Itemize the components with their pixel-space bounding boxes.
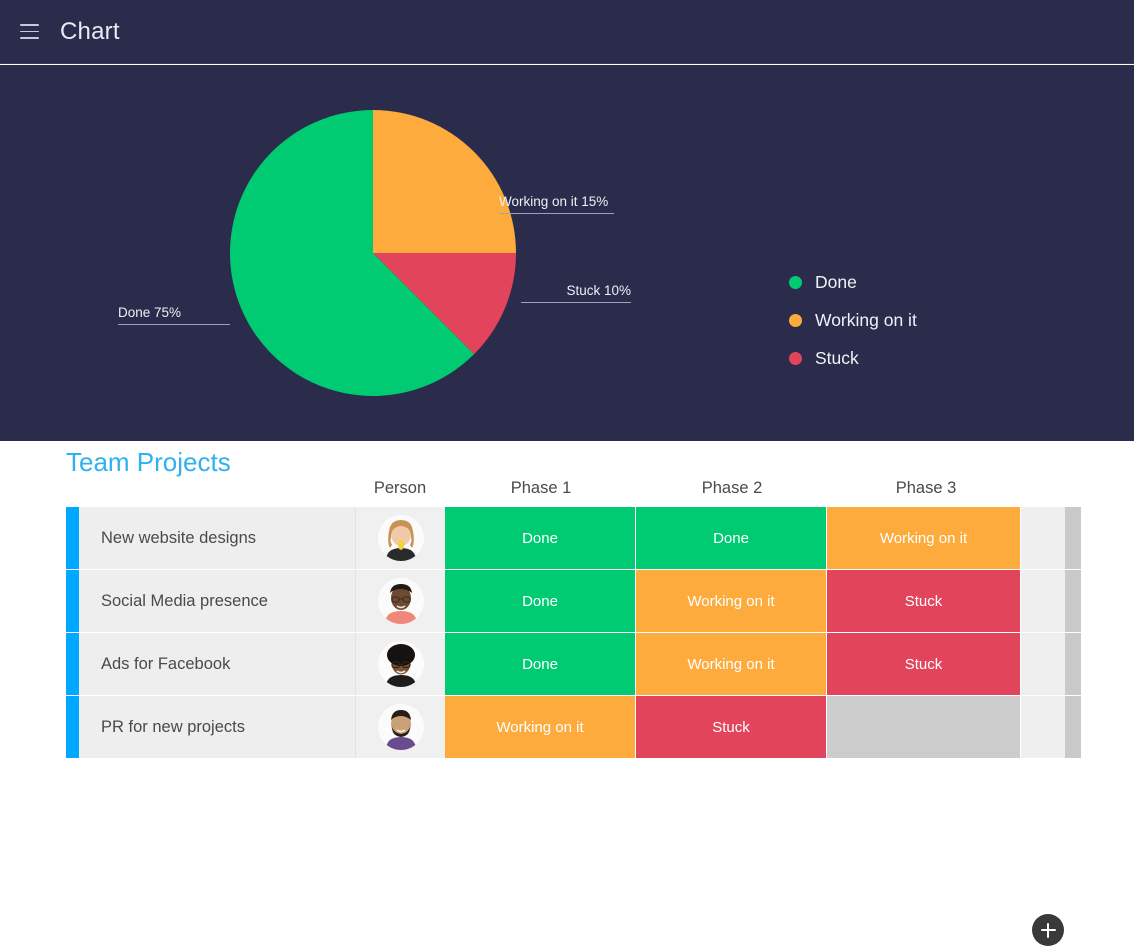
avatar (378, 641, 424, 687)
row-name[interactable]: Social Media presence (79, 570, 355, 632)
status-cell-phase-2[interactable]: Working on it (636, 570, 827, 632)
board-header: Team Projects Person Phase 1 Phase 2 Pha… (0, 441, 1134, 507)
vertical-scrollbar[interactable] (1065, 633, 1081, 695)
row-name[interactable]: PR for new projects (79, 696, 355, 758)
status-cell-phase-1[interactable]: Done (445, 570, 636, 632)
table-row[interactable]: New website designs D (0, 507, 1134, 569)
row-spacer-cell (1021, 507, 1065, 569)
status-cell-phase-3[interactable]: Working on it (827, 507, 1021, 569)
legend-dot-icon (789, 352, 802, 365)
pie-label-working-on-it-text: Working on it 15% (499, 193, 614, 210)
column-header-phase-1[interactable]: Phase 1 (446, 479, 636, 498)
row-accent-bar (66, 570, 79, 632)
legend-label-stuck: Stuck (815, 348, 859, 369)
pie-label-working-on-it: Working on it 15% (499, 193, 614, 214)
avatar-image (378, 578, 424, 624)
row-name[interactable]: Ads for Facebook (79, 633, 355, 695)
status-cell-phase-3[interactable] (827, 696, 1021, 758)
avatar (378, 578, 424, 624)
board-panel: Team Projects Person Phase 1 Phase 2 Pha… (0, 441, 1134, 768)
row-accent-bar (66, 633, 79, 695)
row-accent-bar (66, 507, 79, 569)
add-column-button[interactable] (1032, 914, 1064, 946)
status-cell-phase-2[interactable]: Stuck (636, 696, 827, 758)
pie-slice-working-on-it (373, 110, 516, 253)
row-spacer-cell (1021, 696, 1065, 758)
column-header-person[interactable]: Person (355, 479, 445, 498)
app-root: Chart Working on it 15% Stuck 10% Done 7… (0, 0, 1134, 768)
legend-item-stuck[interactable]: Stuck (789, 339, 917, 377)
avatar (378, 704, 424, 750)
status-cell-phase-3[interactable]: Stuck (827, 633, 1021, 695)
pie-chart-svg (228, 108, 518, 398)
hamburger-line (20, 31, 39, 33)
status-cell-phase-1[interactable]: Done (445, 507, 636, 569)
vertical-scrollbar[interactable] (1065, 696, 1081, 758)
legend-dot-icon (789, 276, 802, 289)
row-person-cell[interactable] (355, 696, 445, 758)
legend-label-done: Done (815, 272, 857, 293)
leader-line (521, 302, 631, 303)
hamburger-line (20, 24, 39, 26)
pie-label-stuck-text: Stuck 10% (521, 282, 631, 299)
chart-legend: Done Working on it Stuck (789, 263, 917, 377)
row-person-cell[interactable] (355, 570, 445, 632)
row-name[interactable]: New website designs (79, 507, 355, 569)
avatar (378, 515, 424, 561)
vertical-scrollbar[interactable] (1065, 507, 1081, 569)
avatar-image (378, 515, 424, 561)
board-rows: New website designs D (0, 507, 1134, 759)
legend-item-done[interactable]: Done (789, 263, 917, 301)
pie-label-done-text: Done 75% (118, 304, 230, 321)
legend-item-working-on-it[interactable]: Working on it (789, 301, 917, 339)
row-person-cell[interactable] (355, 507, 445, 569)
row-accent-bar (66, 696, 79, 758)
page-title: Chart (60, 18, 120, 46)
row-person-cell[interactable] (355, 633, 445, 695)
avatar-image (378, 704, 424, 750)
status-cell-phase-1[interactable]: Working on it (445, 696, 636, 758)
table-row[interactable]: PR for new projects Working on it (0, 696, 1134, 758)
status-cell-phase-3[interactable]: Stuck (827, 570, 1021, 632)
status-cell-phase-2[interactable]: Working on it (636, 633, 827, 695)
status-cell-phase-1[interactable]: Done (445, 633, 636, 695)
row-spacer-cell (1021, 570, 1065, 632)
leader-line (118, 324, 230, 325)
status-cell-phase-2[interactable]: Done (636, 507, 827, 569)
pie-label-done: Done 75% (118, 304, 230, 325)
leader-line (499, 213, 614, 214)
top-bar: Chart (0, 0, 1134, 64)
board-title: Team Projects (66, 447, 231, 478)
avatar-image (378, 641, 424, 687)
legend-label-working-on-it: Working on it (815, 310, 917, 331)
vertical-scrollbar[interactable] (1065, 570, 1081, 632)
column-header-phase-2[interactable]: Phase 2 (637, 479, 827, 498)
table-row[interactable]: Social Media presence (0, 570, 1134, 632)
column-header-phase-3[interactable]: Phase 3 (829, 479, 1023, 498)
table-row[interactable]: Ads for Facebook (0, 633, 1134, 695)
pie-label-stuck: Stuck 10% (521, 282, 631, 303)
chart-panel: Working on it 15% Stuck 10% Done 75% Don… (0, 65, 1134, 441)
legend-dot-icon (789, 314, 802, 327)
hamburger-menu-icon[interactable] (12, 15, 46, 49)
hamburger-line (20, 37, 39, 39)
pie-chart[interactable] (228, 108, 518, 398)
row-spacer-cell (1021, 633, 1065, 695)
